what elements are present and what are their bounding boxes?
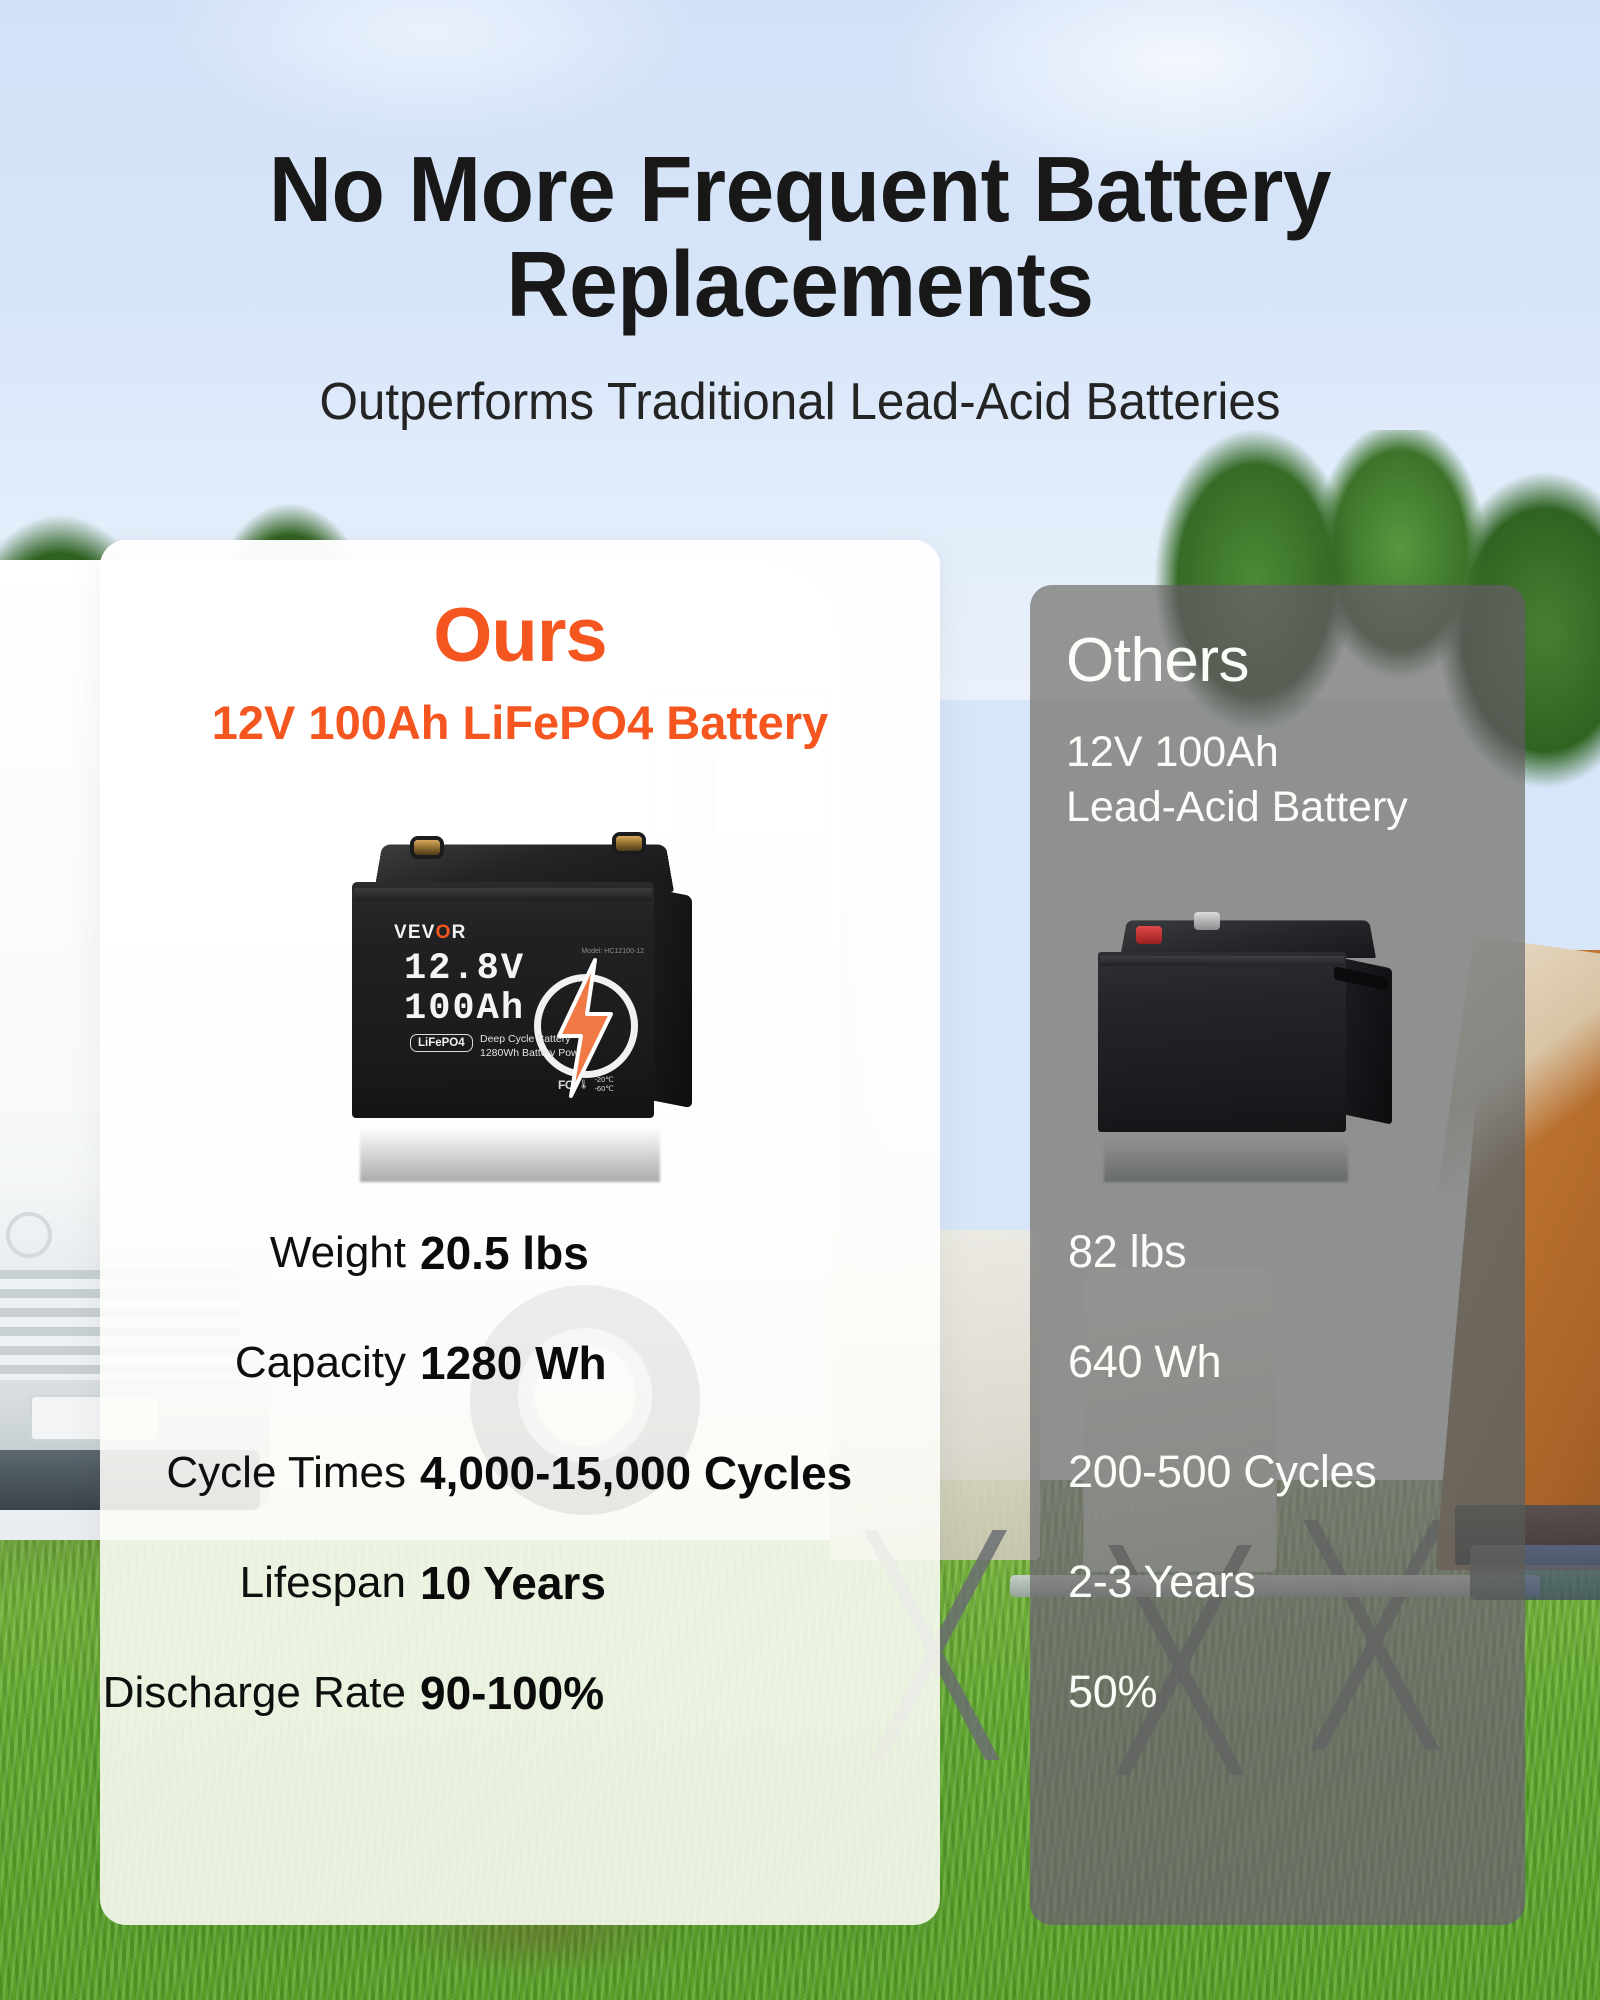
positive-terminal-icon: [1136, 926, 1162, 944]
battery-brand-logo: VEVOR: [394, 922, 467, 944]
header-block: No More Frequent Battery Replacements Ou…: [0, 0, 1600, 432]
battery-front-lip: [354, 888, 652, 901]
lightning-bolt-icon: [549, 958, 621, 1098]
spec-value-ours: 90-100%: [420, 1666, 604, 1720]
others-product-name: 12V 100Ah Lead-Acid Battery: [1066, 725, 1408, 835]
table-row: Capacity 1280 Wh 640 Wh: [0, 1338, 1600, 1448]
spec-value-ours: 10 Years: [420, 1556, 606, 1610]
battery-chemistry-badge: LiFePO4: [410, 1034, 473, 1052]
spec-label: Lifespan: [240, 1558, 406, 1608]
lead-acid-battery-reflection: [1104, 1132, 1348, 1182]
lead-acid-battery-front: [1098, 952, 1346, 1132]
page-subtitle: Outperforms Traditional Lead-Acid Batter…: [40, 372, 1560, 432]
spec-value-others: 2-3 Years: [1068, 1556, 1255, 1608]
battery-voltage-text: 12.8V: [404, 948, 525, 990]
battery-side-panel: [650, 888, 692, 1108]
ours-panel-title: Ours: [100, 592, 940, 679]
spec-value-others: 82 lbs: [1068, 1226, 1186, 1278]
spec-label: Cycle Times: [166, 1448, 406, 1498]
battery-reflection: [360, 1118, 660, 1182]
spec-value-ours: 20.5 lbs: [420, 1226, 589, 1280]
others-panel-title: Others: [1066, 625, 1249, 696]
spec-value-others: 640 Wh: [1068, 1336, 1221, 1388]
spec-value-others: 200-500 Cycles: [1068, 1446, 1376, 1498]
page-title: No More Frequent Battery Replacements: [48, 0, 1552, 332]
table-row: Cycle Times 4,000-15,000 Cycles 200-500 …: [0, 1448, 1600, 1558]
spec-value-ours: 1280 Wh: [420, 1336, 607, 1390]
page-title-line-1: No More Frequent Battery: [48, 142, 1552, 237]
battery-terminal-icon: [414, 840, 440, 855]
table-row: Weight 20.5 lbs 82 lbs: [0, 1228, 1600, 1338]
battery-capacity-text: 100Ah: [404, 988, 525, 1030]
spec-label: Weight: [270, 1228, 406, 1278]
negative-terminal-icon: [1194, 912, 1220, 930]
ours-product-name: 12V 100Ah LiFePO4 Battery: [100, 695, 940, 750]
lead-acid-battery-image: [1098, 912, 1398, 1152]
table-row: Lifespan 10 Years 2-3 Years: [0, 1558, 1600, 1668]
lifepo4-battery-image: Model: HC12100-12 VEVOR 12.8V 100Ah LiFe…: [352, 836, 692, 1126]
spec-value-ours: 4,000-15,000 Cycles: [420, 1446, 852, 1500]
spec-value-others: 50%: [1068, 1666, 1157, 1718]
spec-label: Discharge Rate: [103, 1668, 406, 1718]
spec-comparison-table: Weight 20.5 lbs 82 lbs Capacity 1280 Wh …: [0, 1228, 1600, 1778]
lead-acid-battery-lip: [1100, 956, 1344, 966]
battery-model-code: Model: HC12100-12: [581, 948, 644, 955]
others-product-name-line-1: 12V 100Ah: [1066, 725, 1408, 780]
battery-terminal-icon: [616, 836, 642, 851]
others-product-name-line-2: Lead-Acid Battery: [1066, 780, 1408, 835]
spec-label: Capacity: [235, 1338, 406, 1388]
page-title-line-2: Replacements: [48, 237, 1552, 332]
table-row: Discharge Rate 90-100% 50%: [0, 1668, 1600, 1778]
